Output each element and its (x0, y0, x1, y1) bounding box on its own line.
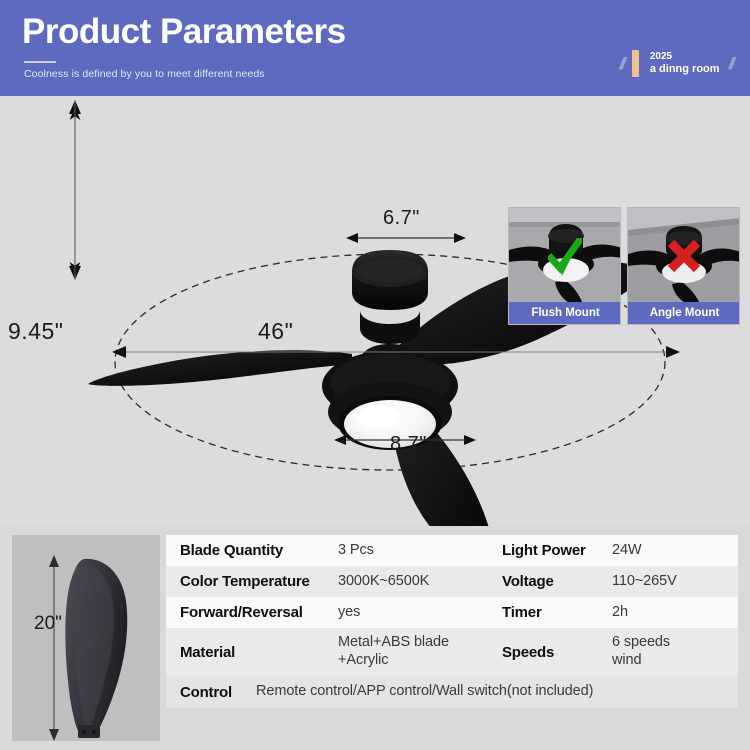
specifications-table: Blade Quantity 3 Pcs Color Temperature 3… (166, 535, 738, 708)
spec-key: Color Temperature (180, 573, 338, 590)
specs-section: 20" Blade Quantity 3 Pcs Color Temperatu… (0, 526, 750, 750)
spec-key: Voltage (502, 573, 612, 590)
table-row: Blade Quantity 3 Pcs (166, 535, 488, 566)
red-cross-icon (666, 238, 702, 274)
dimension-label-height: 9.45" (8, 318, 63, 345)
fan-diagram-stage: 9.45" 46" 6.7" 8.7" (0, 96, 750, 526)
spec-key: Blade Quantity (180, 542, 338, 559)
spec-value: Remote control/APP control/Wall switch(n… (256, 683, 593, 701)
page-subtitle: Coolness is defined by you to meet diffe… (24, 68, 265, 80)
spec-key: Speeds (502, 644, 612, 661)
table-row: Material Metal+ABS blade +Acrylic (166, 628, 488, 676)
title-divider (24, 61, 56, 63)
tag-year: 2025 (650, 51, 720, 63)
specs-column-left: Blade Quantity 3 Pcs Color Temperature 3… (166, 535, 488, 676)
spec-value: 110~265V (612, 573, 677, 591)
spec-value: 3000K~6500K (338, 573, 429, 591)
tag-room: a dinng room (650, 63, 720, 76)
spec-value: 6 speeds wind (612, 634, 670, 669)
dimension-label-blade-span: 46" (258, 318, 293, 345)
blade-dimension-label: 20" (34, 613, 62, 635)
blade-photo-panel: 20" (12, 535, 160, 741)
table-row: Forward/Reversal yes (166, 597, 488, 628)
tag-accent-bar (632, 50, 639, 77)
spec-key: Material (180, 644, 338, 661)
green-check-icon (548, 238, 582, 278)
header-tag-group: // 2025 a dinng room // (619, 50, 732, 77)
spec-value: 2h (612, 604, 628, 622)
slash-left-icon: // (619, 55, 622, 72)
table-row: Light Power 24W (488, 535, 738, 566)
page-title: Product Parameters (22, 12, 346, 52)
spec-key: Forward/Reversal (180, 604, 338, 621)
header-tag-text: 2025 a dinng room (650, 51, 720, 77)
mount-comparison: Flush Mount Angle (508, 207, 740, 325)
spec-value: 24W (612, 542, 642, 560)
spec-value: Metal+ABS blade +Acrylic (338, 634, 449, 669)
table-row: Speeds 6 speeds wind (488, 628, 738, 676)
flush-mount-label: Flush Mount (509, 302, 621, 324)
page-header: Product Parameters Coolness is defined b… (0, 0, 750, 96)
table-row: Timer 2h (488, 597, 738, 628)
blade-photo-svg (12, 535, 160, 741)
specs-two-column-grid: Blade Quantity 3 Pcs Color Temperature 3… (166, 535, 738, 676)
table-row-control: Control Remote control/APP control/Wall … (166, 676, 738, 708)
angle-mount-label: Angle Mount (628, 302, 740, 324)
mount-card-flush: Flush Mount (508, 207, 621, 325)
table-row: Voltage 110~265V (488, 566, 738, 597)
mount-card-angle: Angle Mount (627, 207, 740, 325)
spec-key: Control (180, 684, 256, 701)
dimension-label-housing-height: 6.7" (383, 207, 420, 230)
table-row: Color Temperature 3000K~6500K (166, 566, 488, 597)
spec-key: Timer (502, 604, 612, 621)
spec-value: yes (338, 604, 360, 622)
dimension-label-light-diameter: 8.7" (390, 433, 427, 456)
slash-right-icon: // (729, 55, 732, 72)
spec-key: Light Power (502, 542, 612, 559)
specs-column-right: Light Power 24W Voltage 110~265V Timer 2… (488, 535, 738, 676)
spec-value: 3 Pcs (338, 542, 374, 560)
